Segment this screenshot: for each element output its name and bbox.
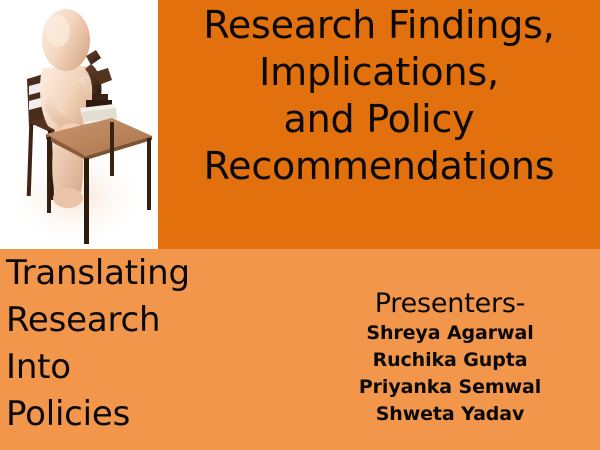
presenter-name-3: Priyanka Semwal	[300, 374, 600, 401]
title-line-4: Recommendations	[158, 143, 600, 190]
figure-head	[42, 9, 90, 71]
title-panel: Research Findings, Implications, and Pol…	[158, 0, 600, 249]
subtitle-line-1: Translating	[6, 250, 296, 297]
subtitle-line-3: Into	[6, 344, 296, 391]
slide-bottom-section: Translating Research Into Policies Prese…	[0, 249, 600, 450]
presenters-heading: Presenters-	[300, 287, 600, 320]
slide-title: Research Findings, Implications, and Pol…	[158, 2, 600, 190]
presenter-name-2: Ruchika Gupta	[300, 347, 600, 374]
presentation-title-slide: Research Findings, Implications, and Pol…	[0, 0, 600, 450]
presenters-panel: Presenters- Shreya Agarwal Ruchika Gupta…	[300, 249, 600, 450]
subtitle-line-4: Policies	[6, 391, 296, 438]
slide-subtitle: Translating Research Into Policies	[6, 250, 296, 438]
slide-top-section: Research Findings, Implications, and Pol…	[0, 0, 600, 249]
researcher-at-microscope-illustration	[0, 0, 158, 249]
presenter-name-4: Shweta Yadav	[300, 401, 600, 428]
title-line-3: and Policy	[158, 96, 600, 143]
presenters-list: Presenters- Shreya Agarwal Ruchika Gupta…	[300, 287, 600, 428]
subtitle-panel: Translating Research Into Policies	[0, 249, 300, 450]
subtitle-line-2: Research	[6, 297, 296, 344]
title-line-2: Implications,	[158, 49, 600, 96]
presenter-name-1: Shreya Agarwal	[300, 320, 600, 347]
illustration-panel	[0, 0, 158, 249]
title-line-1: Research Findings,	[158, 2, 600, 49]
